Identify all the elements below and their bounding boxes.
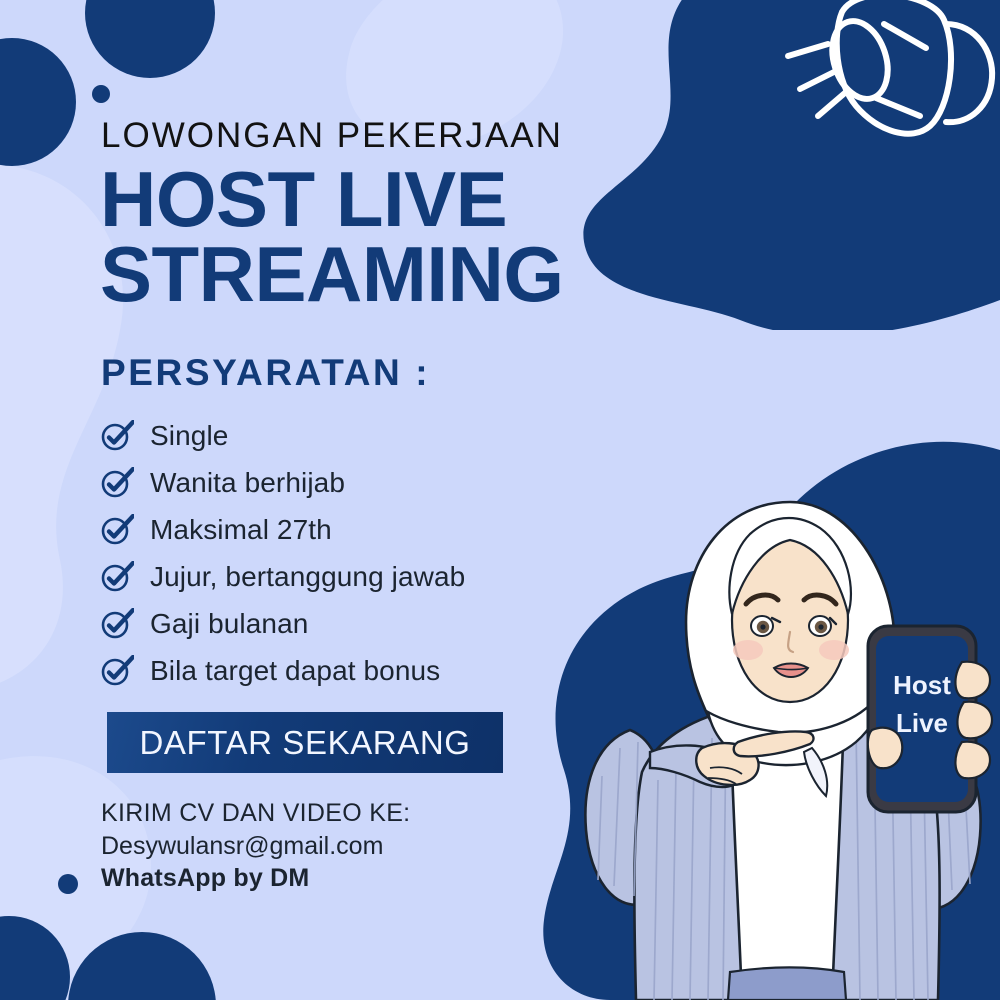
list-item-label: Wanita berhijab [150,467,345,499]
check-circle-icon [100,561,134,593]
contact-email[interactable]: Desywulansr@gmail.com [101,830,410,863]
contact-info: KIRIM CV DAN VIDEO KE: Desywulansr@gmail… [101,797,410,895]
phone-screen-line-1: Host [893,670,951,700]
megaphone-icon [780,0,1000,184]
hijab-woman-illustration: Host Live [580,480,1000,1000]
job-vacancy-poster: LOWONGAN PEKERJAAN HOST LIVE STREAMING P… [0,0,1000,1000]
list-item-label: Bila target dapat bonus [150,655,440,687]
requirements-list: Single Wanita berhijab Maksimal 27th Juj… [100,412,660,694]
contact-whatsapp: WhatsApp by DM [101,862,410,895]
check-circle-icon [100,514,134,546]
check-circle-icon [100,467,134,499]
list-item: Bila target dapat bonus [100,647,660,694]
list-item: Gaji bulanan [100,600,660,647]
contact-instruction: KIRIM CV DAN VIDEO KE: [101,797,410,830]
phone-screen-line-2: Live [896,708,948,738]
list-item-label: Single [150,420,228,452]
list-item: Jujur, bertanggung jawab [100,553,660,600]
list-item-label: Jujur, bertanggung jawab [150,561,465,593]
poster-kicker: LOWONGAN PEKERJAAN [101,118,563,153]
decor-dot-small-bottom [58,874,78,894]
list-item-label: Maksimal 27th [150,514,332,546]
list-item: Single [100,412,660,459]
decor-dot-small-top [92,85,110,103]
list-item: Maksimal 27th [100,506,660,553]
register-now-button-label: DAFTAR SEKARANG [139,724,470,762]
list-item: Wanita berhijab [100,459,660,506]
check-circle-icon [100,655,134,687]
page-title: HOST LIVE STREAMING [100,162,564,312]
check-circle-icon [100,420,134,452]
register-now-button[interactable]: DAFTAR SEKARANG [107,712,503,773]
check-circle-icon [100,608,134,640]
requirements-heading: PERSYARATAN : [101,352,430,394]
list-item-label: Gaji bulanan [150,608,308,640]
